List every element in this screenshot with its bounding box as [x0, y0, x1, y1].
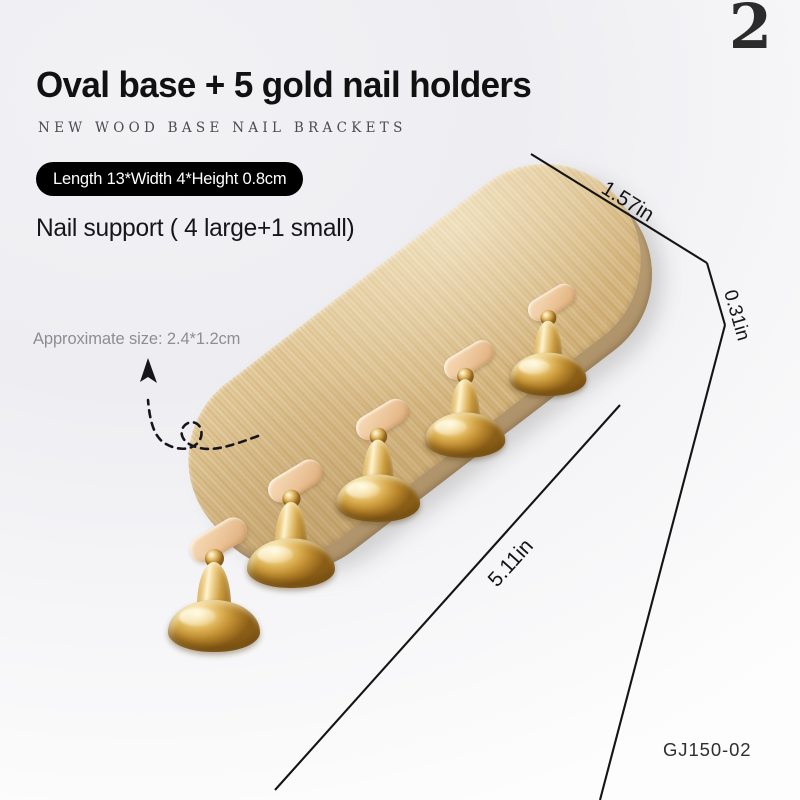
gold-nail-holder: [334, 405, 422, 522]
gold-nail-holder: [245, 466, 337, 588]
product-infographic: 2: [0, 0, 800, 800]
holder-dome-base: [168, 600, 260, 652]
gold-nail-holder: [423, 346, 507, 458]
holder-dome-base: [336, 474, 420, 522]
page-title: Oval base + 5 gold nail holders: [36, 64, 531, 106]
gold-nail-holder: [508, 289, 588, 396]
holder-dome-base: [247, 538, 335, 588]
page-subtitle: NEW WOOD BASE NAIL BRACKETS: [38, 120, 407, 136]
product-code: GJ150-02: [663, 739, 751, 761]
size-badge: Length 13*Width 4*Height 0.8cm: [36, 162, 303, 196]
nail-support-description: Nail support ( 4 large+1 small): [36, 214, 354, 243]
holder-dome-base: [510, 353, 587, 396]
holder-dome-base: [425, 413, 506, 459]
approximate-size-note: Approximate size: 2.4*1.2cm: [33, 330, 240, 349]
